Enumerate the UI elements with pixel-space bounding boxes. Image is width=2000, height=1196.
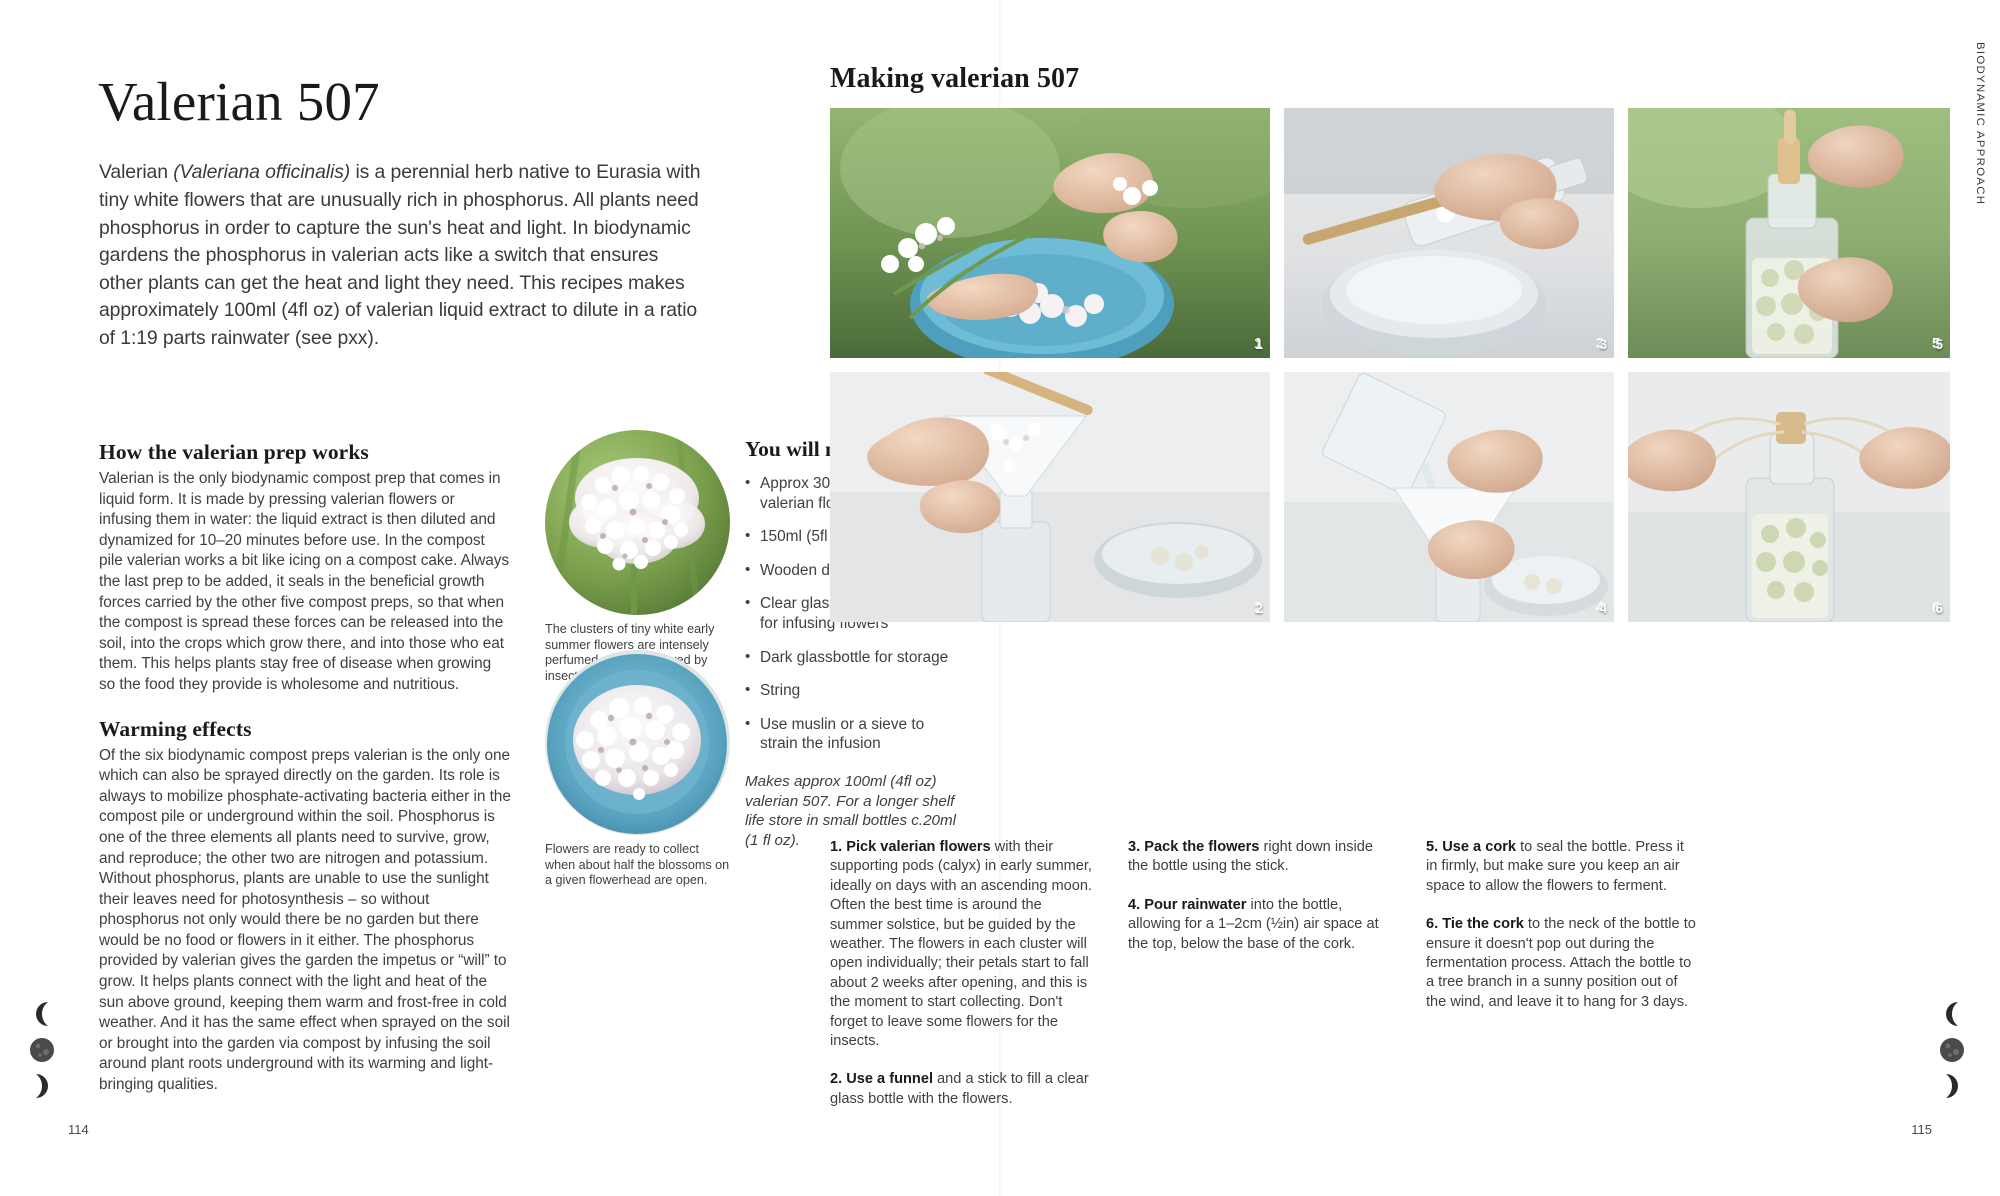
pouring-rainwater-photo: 4 [1284,372,1614,622]
photo-valerian-flower-cluster [545,430,730,615]
photo-caption-2: Flowers are ready to collect when about … [545,842,730,889]
crescent-moon-icon [28,1000,56,1028]
list-item: Use muslin or a sieve to strain the infu… [745,715,960,754]
step-5: 5. Use a cork to seal the bottle. Press … [1426,838,1698,896]
running-head: BIODYNAMIC APPROACH [1974,42,1986,205]
step-photo-grid: 1 1 [830,108,1950,636]
list-item: String [745,681,960,701]
packing-flowers-photo: 3 [1284,108,1614,358]
picking-flowers-photo: 1 [830,108,1270,358]
tying-cork-photo: 6 [1628,372,1950,622]
intro-before: Valerian [99,161,173,183]
photo-number: 6 [1935,601,1943,616]
list-item: Dark glassbottle for storage [745,648,960,668]
step-photo-4: 4 4 [1284,372,1614,622]
full-moon-icon [28,1036,56,1064]
steps-column-3: 5. Use a cork to seal the bottle. Press … [1426,838,1698,1128]
step-lead: 4. Pour rainwater [1128,897,1246,913]
intro-after: is a perennial herb native to Eurasia wi… [99,161,701,349]
photo-row-bottom: 2 2 [830,372,1950,622]
step-1: 1. Pick valerian flowers with their supp… [830,838,1098,1051]
photo-number: 1 [1255,337,1263,352]
step-photo-1: 1 1 [830,108,1270,358]
step-lead: 1. Pick valerian flowers [830,839,991,855]
step-lead: 2. Use a funnel [830,1071,933,1087]
flower-cluster-illustration [545,430,730,615]
photo-number: 4 [1599,601,1607,616]
intro-latin-name: (Valeriana officinalis) [173,161,350,183]
step-lead: 5. Use a cork [1426,839,1516,855]
step-4: 4. Pour rainwater into the bottle, allow… [1128,896,1396,954]
step-photo-6: 6 6 [1628,372,1950,622]
step-photo-5: 5 5 [1628,108,1950,358]
step-2: 2. Use a funnel and a stick to fill a cl… [830,1070,1098,1109]
book-spread: Valerian 507 Valerian (Valeriana officin… [0,0,2000,1196]
section-body-warming-effects: Of the six biodynamic compost preps vale… [99,746,511,1096]
photo-row-top: 1 1 [830,108,1950,358]
step-lead: 6. Tie the cork [1426,916,1524,932]
full-moon-icon [1938,1036,1966,1064]
steps-column-2: 3. Pack the flowers right down inside th… [1128,838,1396,1128]
page-number-left: 114 [68,1122,89,1137]
intro-paragraph: Valerian (Valeriana officinalis) is a pe… [99,159,707,352]
page-title: Valerian 507 [98,73,380,131]
step-photo-2: 2 2 [830,372,1270,622]
crescent-moon-icon [1938,1000,1966,1028]
photo-flowers-in-bowl [545,650,730,835]
step-text: with their supporting pods (calyx) in ea… [830,839,1092,1049]
steps-columns: 1. Pick valerian flowers with their supp… [830,838,1950,1128]
page-number-right: 115 [1911,1122,1932,1137]
right-page-title: Making valerian 507 [830,63,1079,95]
moon-phase-decoration-right [1938,1000,1972,1108]
funnel-filling-photo: 2 [830,372,1270,622]
corking-bottle-photo: 5 [1628,108,1950,358]
step-photo-3: 3 3 [1284,108,1614,358]
photo-number: 3 [1599,337,1607,352]
step-3: 3. Pack the flowers right down inside th… [1128,838,1396,877]
step-6: 6. Tie the cork to the neck of the bottl… [1426,915,1698,1012]
section-heading-prep-works: How the valerian prep works [99,440,511,465]
waning-moon-icon [28,1072,56,1100]
waning-moon-icon [1938,1072,1966,1100]
bowl-of-flowers-illustration [545,650,730,835]
moon-phase-decoration-left [28,1000,62,1108]
section-body-prep-works: Valerian is the only biodynamic compost … [99,469,511,696]
photo-number: 5 [1935,337,1943,352]
left-text-column: How the valerian prep works Valerian is … [99,440,511,1096]
photo-number: 2 [1255,601,1263,616]
step-lead: 3. Pack the flowers [1128,839,1259,855]
section-heading-warming-effects: Warming effects [99,717,511,742]
steps-column-1: 1. Pick valerian flowers with their supp… [830,838,1098,1128]
